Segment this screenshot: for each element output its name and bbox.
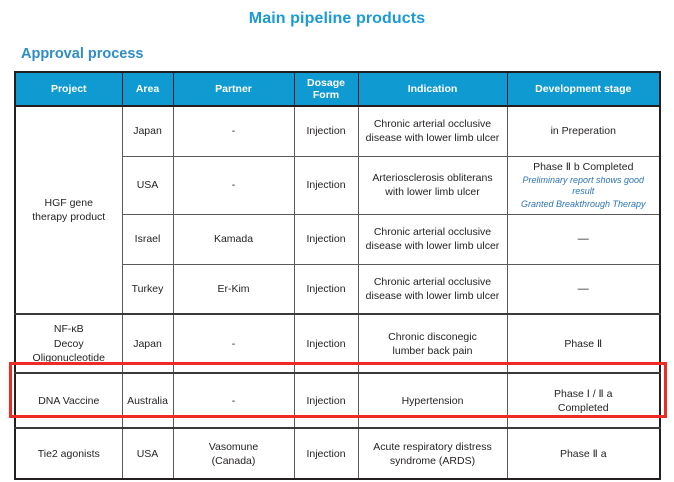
column-header-partner: Partner (173, 72, 294, 106)
cell-partner: - (173, 314, 294, 373)
cell-indication: Chronic disconegic lumber back pain (358, 314, 507, 373)
indication-line1: Arteriosclerosis obliterans (372, 172, 492, 184)
stage-main: — (512, 232, 656, 247)
page-title: Main pipeline products (0, 10, 674, 28)
cell-dosage-form: Injection (294, 264, 358, 314)
table-row-dna-vaccine: DNA Vaccine Australia - Injection Hypert… (15, 373, 660, 428)
project-name-line2: therapy product (32, 211, 105, 223)
cell-partner: - (173, 373, 294, 428)
cell-partner: - (173, 106, 294, 156)
stage-line2: Completed (512, 401, 656, 415)
cell-development-stage: — (507, 214, 660, 264)
cell-development-stage: Phase Ⅱ b Completed Preliminary report s… (507, 156, 660, 214)
table-row: HGF gene therapy product Japan - Injecti… (15, 106, 660, 156)
cell-area: USA (122, 428, 173, 479)
indication-line2: disease with lower limb ulcer (366, 240, 500, 252)
indication-line1: Chronic arterial occlusive (374, 118, 491, 130)
stage-note-2: Granted Breakthrough Therapy (512, 199, 656, 211)
cell-dosage-form: Injection (294, 214, 358, 264)
column-header-dosage-form-line1: Dosage (307, 77, 345, 89)
stage-main: in Preperation (512, 124, 656, 138)
stage-main: — (512, 282, 656, 297)
cell-project-dna-vaccine: DNA Vaccine (15, 373, 122, 428)
cell-development-stage: in Preperation (507, 106, 660, 156)
column-header-development-stage: Development stage (507, 72, 660, 106)
cell-partner: Kamada (173, 214, 294, 264)
partner-line1: Vasomune (209, 441, 258, 453)
project-name-line1: Tie2 agonists (38, 448, 100, 460)
indication-line1: Chronic disconegic (388, 331, 477, 343)
table-row: NF-κB Decoy Oligonucleotide Japan - Inje… (15, 314, 660, 373)
indication-line2: syndrome (ARDS) (390, 455, 475, 467)
stage-note-1: Preliminary report shows good result (512, 175, 656, 198)
column-header-area: Area (122, 72, 173, 106)
table-body: HGF gene therapy product Japan - Injecti… (15, 106, 660, 479)
cell-area: Australia (122, 373, 173, 428)
indication-line1: Chronic arterial occlusive (374, 226, 491, 238)
cell-dosage-form: Injection (294, 314, 358, 373)
column-header-dosage-form-line2: Form (313, 89, 339, 101)
cell-dosage-form: Injection (294, 106, 358, 156)
stage-main: Phase Ⅱ a (512, 447, 656, 461)
cell-partner: - (173, 156, 294, 214)
cell-development-stage: — (507, 264, 660, 314)
indication-line2: disease with lower limb ulcer (366, 132, 500, 144)
project-name-line1: NF-κB (54, 323, 84, 335)
table-header-row: Project Area Partner Dosage Form Indicat… (15, 72, 660, 106)
cell-dosage-form: Injection (294, 373, 358, 428)
cell-indication: Chronic arterial occlusive disease with … (358, 264, 507, 314)
partner-line2: (Canada) (212, 455, 256, 467)
indication-line2: disease with lower limb ulcer (366, 290, 500, 302)
cell-indication: Acute respiratory distress syndrome (ARD… (358, 428, 507, 479)
column-header-indication: Indication (358, 72, 507, 106)
cell-dosage-form: Injection (294, 156, 358, 214)
column-header-dosage-form: Dosage Form (294, 72, 358, 106)
cell-area: Turkey (122, 264, 173, 314)
cell-partner: Er-Kim (173, 264, 294, 314)
cell-area: Japan (122, 314, 173, 373)
project-name-line2: Decoy (54, 338, 84, 350)
cell-project-nfkb: NF-κB Decoy Oligonucleotide (15, 314, 122, 373)
cell-project-hgf: HGF gene therapy product (15, 106, 122, 314)
cell-area: USA (122, 156, 173, 214)
indication-line2: with lower limb ulcer (385, 186, 480, 198)
table-row: Tie2 agonists USA Vasomune (Canada) Inje… (15, 428, 660, 479)
stage-main: Phase Ⅱ (512, 337, 656, 351)
cell-partner: Vasomune (Canada) (173, 428, 294, 479)
pipeline-table: Project Area Partner Dosage Form Indicat… (14, 71, 661, 480)
stage-main: Phase Ⅱ b Completed (512, 160, 656, 174)
cell-development-stage: Phase Ⅱ a (507, 428, 660, 479)
cell-area: Israel (122, 214, 173, 264)
column-header-project: Project (15, 72, 122, 106)
indication-line2: lumber back pain (393, 345, 473, 357)
indication-line1: Hypertension (402, 395, 464, 407)
project-name-line1: HGF gene (45, 197, 93, 209)
cell-indication: Chronic arterial occlusive disease with … (358, 214, 507, 264)
cell-indication: Hypertension (358, 373, 507, 428)
cell-development-stage: Phase Ⅱ (507, 314, 660, 373)
section-title: Approval process (21, 46, 144, 62)
cell-development-stage: Phase Ⅰ / Ⅱ a Completed (507, 373, 660, 428)
cell-area: Japan (122, 106, 173, 156)
stage-line1: Phase Ⅰ / Ⅱ a (512, 387, 656, 401)
cell-indication: Arteriosclerosis obliterans with lower l… (358, 156, 507, 214)
project-name-line1: DNA Vaccine (38, 395, 99, 407)
cell-dosage-form: Injection (294, 428, 358, 479)
cell-project-tie2: Tie2 agonists (15, 428, 122, 479)
cell-indication: Chronic arterial occlusive disease with … (358, 106, 507, 156)
project-name-line3: Oligonucleotide (33, 352, 105, 364)
table-header: Project Area Partner Dosage Form Indicat… (15, 72, 660, 106)
indication-line1: Acute respiratory distress (373, 441, 491, 453)
indication-line1: Chronic arterial occlusive (374, 276, 491, 288)
